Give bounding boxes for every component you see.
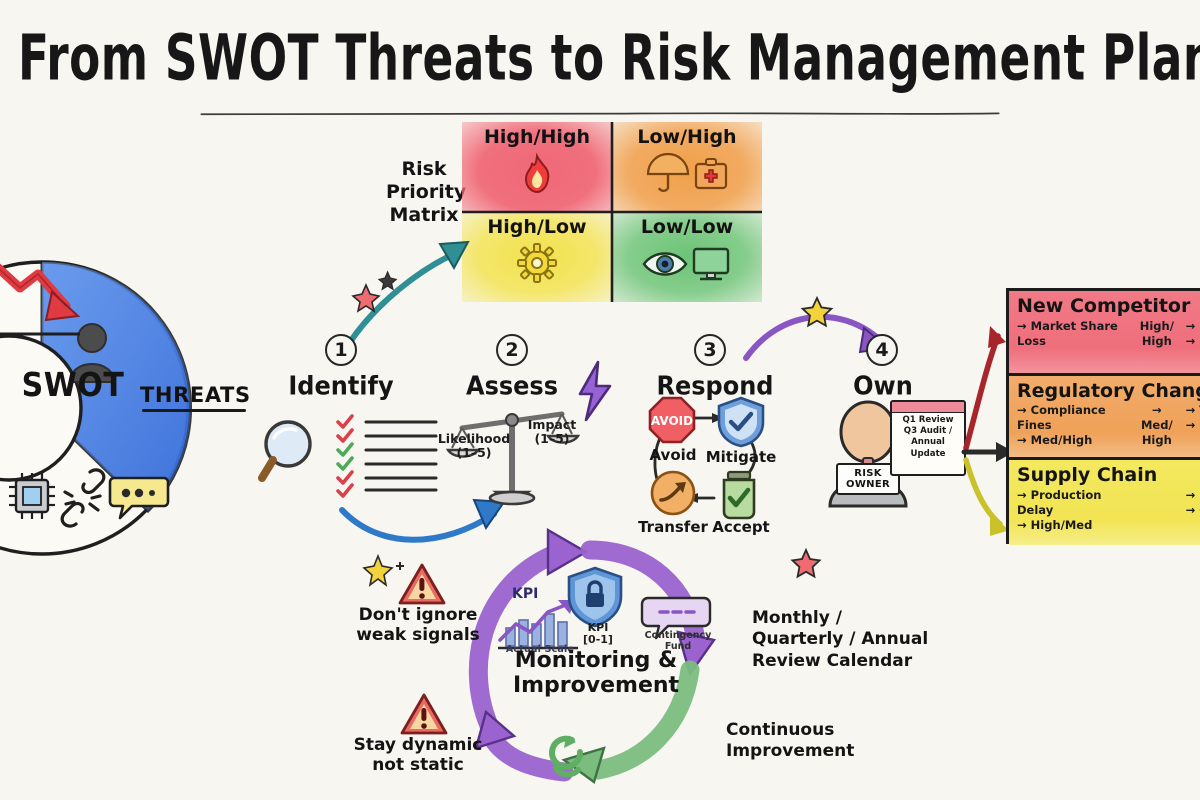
checklist-icon bbox=[332, 414, 442, 494]
umbrella-icon bbox=[648, 154, 688, 191]
risk-register-row-new-competitor[interactable]: New Competitor → Market Share Loss High/… bbox=[1009, 291, 1200, 376]
monitor-icon bbox=[694, 249, 728, 279]
step-1-label: Identify bbox=[281, 371, 401, 401]
risk-rating: → Med/ High bbox=[1136, 403, 1178, 448]
step-2-number: 2 bbox=[496, 334, 528, 366]
svg-text:AVOID: AVOID bbox=[651, 414, 693, 428]
quadrant-label: Low/High bbox=[612, 126, 762, 148]
note-review-calendar: Monthly / Quarterly / Annual Review Cale… bbox=[752, 608, 952, 672]
matrix-title: Risk Priority Matrix bbox=[386, 158, 462, 228]
threats-underline bbox=[142, 409, 246, 412]
warning-triangle-icon-2 bbox=[400, 692, 448, 736]
likelihood-label: Likelihood bbox=[436, 432, 512, 446]
broken-chain-icon bbox=[56, 466, 112, 530]
scale-right-label: Impact (1–5) bbox=[518, 418, 586, 446]
quadrant-label: Low/Low bbox=[612, 216, 762, 238]
page-title: From SWOT Threats to Risk Management Pla… bbox=[18, 22, 1200, 95]
matrix-title-line-3: Matrix bbox=[386, 204, 462, 227]
note-continuous-improvement: Continuous Improvement bbox=[726, 720, 916, 763]
warning-text-stay-dynamic: Stay dynamic not static bbox=[348, 736, 488, 775]
warning-line-1: Don't ignore bbox=[348, 606, 488, 626]
lock-shield-icon bbox=[566, 566, 624, 628]
fire-icon bbox=[462, 154, 612, 194]
infographic-canvas: From SWOT Threats to Risk Management Pla… bbox=[0, 0, 1200, 800]
risk-impact: → Market Share Loss bbox=[1017, 319, 1128, 349]
likelihood-range: (1–5) bbox=[436, 446, 512, 460]
kpi-label: KPI bbox=[512, 586, 538, 602]
kpi-score-box-label: KPI [0-1] bbox=[568, 622, 628, 646]
impact-range: (1–5) bbox=[518, 432, 586, 446]
decorative-stars bbox=[352, 272, 404, 322]
risk-response: → Mitigate → Ops bbox=[1186, 488, 1200, 533]
warning-line-2: weak signals bbox=[348, 626, 488, 646]
risk-response: → Transfer → Legal bbox=[1186, 403, 1200, 448]
matrix-quadrant-low-low[interactable]: Low/Low bbox=[612, 212, 762, 302]
risk-title: New Competitor bbox=[1017, 297, 1200, 317]
quadrant-label: High/High bbox=[462, 126, 612, 148]
step-1-number: 1 bbox=[325, 334, 357, 366]
risk-impact: → Compliance Fines → Med/High bbox=[1017, 403, 1128, 448]
first-aid-kit-icon bbox=[696, 159, 726, 188]
warning-text-weak-signals: Don't ignore weak signals bbox=[348, 606, 488, 645]
risk-priority-matrix: High/High Low/High bbox=[462, 122, 762, 302]
scale-left-label: Likelihood (1–5) bbox=[436, 432, 512, 460]
swot-threats-label: THREATS bbox=[140, 383, 250, 407]
risk-owner-line-2: OWNER bbox=[846, 479, 890, 490]
magnifying-glass-icon bbox=[258, 418, 324, 488]
eye-icon bbox=[644, 254, 686, 275]
stop-octagon-icon[interactable]: AVOID bbox=[648, 396, 696, 444]
risk-title: Regulatory Change bbox=[1017, 382, 1200, 402]
risk-rating bbox=[1136, 488, 1178, 533]
matrix-quadrant-low-high[interactable]: Low/High bbox=[612, 122, 762, 212]
risk-impact: → Production Delay → High/Med bbox=[1017, 488, 1128, 533]
microchip-icon bbox=[6, 470, 58, 522]
step-4-label: Own bbox=[830, 371, 936, 401]
step-3-number: 3 bbox=[694, 334, 726, 366]
warning-line-2: not static bbox=[348, 756, 488, 776]
swot-center-label: SWOT bbox=[14, 366, 132, 405]
step-2-label: Assess bbox=[452, 371, 572, 401]
matrix-title-line-1: Risk bbox=[386, 158, 462, 181]
risk-response: → Mitigate → R&D bbox=[1186, 319, 1200, 349]
matrix-quadrant-high-high[interactable]: High/High bbox=[462, 122, 612, 212]
jar-check-icon[interactable] bbox=[716, 470, 762, 520]
risk-owner-line-1: RISK bbox=[854, 468, 882, 479]
risk-register-row-regulatory-change[interactable]: Regulatory Change → Compliance Fines → M… bbox=[1009, 376, 1200, 461]
cycle-title-line-1: Monitoring & bbox=[490, 648, 702, 673]
warning-line-1: Stay dynamic bbox=[348, 736, 488, 756]
respond-option-mitigate-label: Mitigate bbox=[698, 448, 784, 466]
decorative-star-yellow-2 bbox=[800, 296, 834, 326]
declining-trend-arrow-icon bbox=[0, 248, 104, 344]
lightning-bolt-icon bbox=[572, 360, 618, 422]
decorative-star-red bbox=[790, 548, 822, 578]
cycle-title-line-2: Improvement bbox=[490, 673, 702, 698]
title-divider-rule bbox=[0, 112, 1200, 116]
risk-register-row-supply-chain[interactable]: Supply Chain → Production Delay → High/M… bbox=[1009, 460, 1200, 545]
step-4-number: 4 bbox=[866, 334, 898, 366]
shield-check-icon[interactable] bbox=[716, 396, 766, 448]
risk-register-table: New Competitor → Market Share Loss High/… bbox=[1006, 288, 1200, 544]
risk-rating: High/ High bbox=[1136, 319, 1178, 349]
cycle-title: Monitoring & Improvement bbox=[490, 648, 702, 698]
warning-triangle-icon bbox=[398, 562, 446, 606]
speech-bubble-icon bbox=[108, 474, 170, 522]
risk-title: Supply Chain bbox=[1017, 466, 1200, 486]
matrix-title-line-2: Priority bbox=[386, 181, 462, 204]
transfer-arrow-icon[interactable] bbox=[650, 470, 696, 516]
